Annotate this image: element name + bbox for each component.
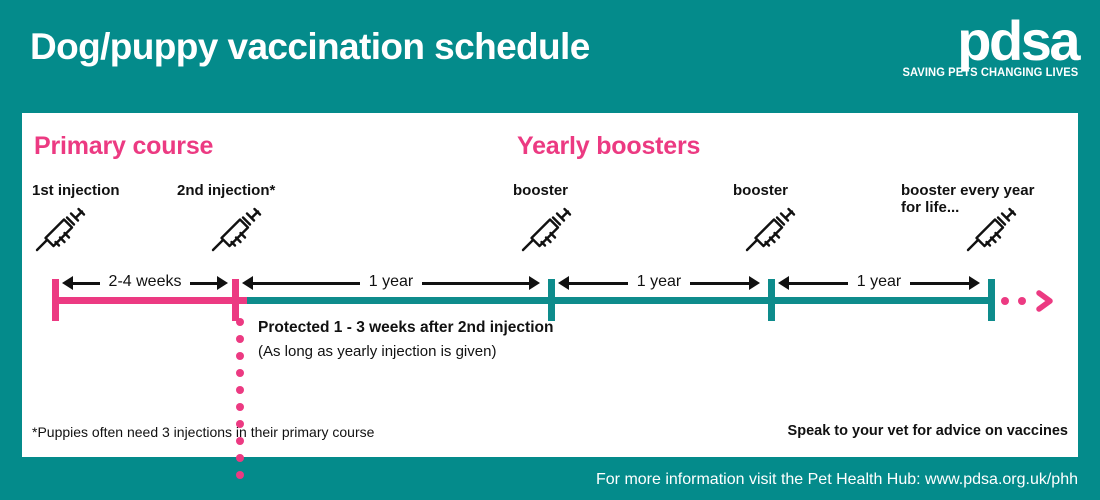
vet-advice-note: Speak to your vet for advice on vaccines <box>788 423 1068 439</box>
arrow-shaft <box>253 282 360 285</box>
chevron-right-icon <box>1035 290 1057 312</box>
pdsa-logo: pdsa SAVING PETS CHANGING LIVES <box>897 16 1078 79</box>
interval-1-year-third: 1 year <box>778 271 980 295</box>
annotation-title: Protected 1 - 3 weeks after 2nd injectio… <box>258 319 678 336</box>
interval-label: 1 year <box>360 273 422 291</box>
logo-tagline: SAVING PETS CHANGING LIVES <box>902 67 1078 79</box>
interval-1-year-second: 1 year <box>558 271 760 295</box>
arrow-right-head-icon <box>529 276 540 290</box>
annotation-subtitle: (As long as yearly injection is given) <box>258 343 678 360</box>
arrow-shaft <box>190 282 217 285</box>
page-footer-text: For more information visit the Pet Healt… <box>0 471 1078 489</box>
timeline-tick-booster-1 <box>548 279 555 321</box>
arrow-shaft <box>910 282 969 285</box>
interval-label: 2-4 weeks <box>100 273 191 291</box>
drop-dot <box>236 386 244 394</box>
drop-dot <box>236 335 244 343</box>
timeline-continuation <box>1001 292 1057 310</box>
protection-drop-line <box>236 318 244 488</box>
arrow-shaft <box>690 282 749 285</box>
drop-dot <box>236 352 244 360</box>
footnote-text: *Puppies often need 3 injections in thei… <box>32 424 374 440</box>
timeline-tick-injection-1 <box>52 279 59 321</box>
timeline-tick-injection-2 <box>232 279 239 321</box>
interval-label: 1 year <box>848 273 910 291</box>
arrow-shaft <box>422 282 529 285</box>
timeline-tick-booster-2 <box>768 279 775 321</box>
page-title: Dog/puppy vaccination schedule <box>30 26 590 68</box>
arrow-left-head-icon <box>778 276 789 290</box>
arrow-left-head-icon <box>62 276 73 290</box>
logo-wordmark: pdsa <box>897 16 1078 66</box>
drop-dot <box>236 318 244 326</box>
interval-2-4-weeks: 2-4 weeks <box>62 271 228 295</box>
interval-label: 1 year <box>628 273 690 291</box>
arrow-shaft <box>569 282 628 285</box>
vaccination-timeline: 2-4 weeks 1 year 1 year 1 year <box>22 113 1078 457</box>
timeline-axis-boosters <box>247 297 990 304</box>
arrow-right-head-icon <box>217 276 228 290</box>
arrow-right-head-icon <box>969 276 980 290</box>
arrow-left-head-icon <box>242 276 253 290</box>
arrow-shaft <box>73 282 100 285</box>
continuation-dot <box>1018 297 1026 305</box>
protection-annotation: Protected 1 - 3 weeks after 2nd injectio… <box>258 319 678 360</box>
drop-dot <box>236 454 244 462</box>
drop-dot <box>236 369 244 377</box>
continuation-dot <box>1001 297 1009 305</box>
timeline-tick-booster-3 <box>988 279 995 321</box>
arrow-left-head-icon <box>558 276 569 290</box>
arrow-right-head-icon <box>749 276 760 290</box>
drop-dot <box>236 403 244 411</box>
arrow-shaft <box>789 282 848 285</box>
timeline-panel: Primary course Yearly boosters 1st injec… <box>22 113 1078 457</box>
interval-1-year-first: 1 year <box>242 271 540 295</box>
